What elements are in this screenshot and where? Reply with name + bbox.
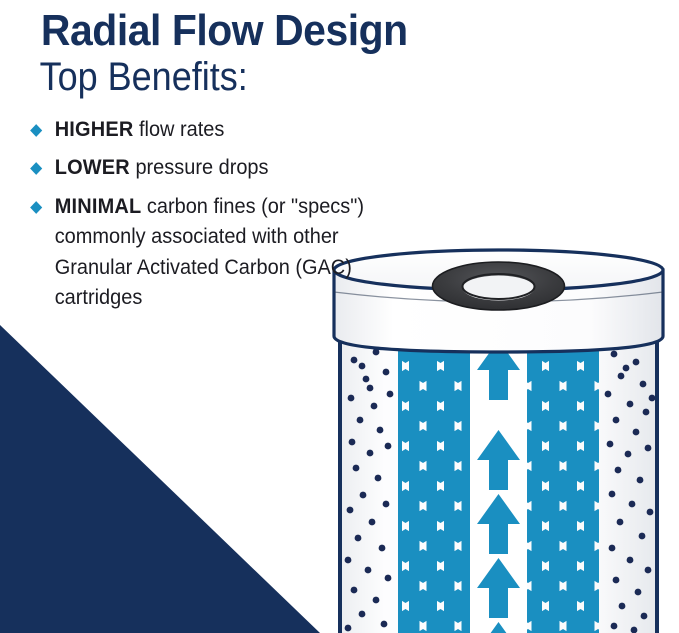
benefit-emphasis: MINIMAL bbox=[55, 195, 142, 218]
diamond-bullet-icon bbox=[30, 201, 42, 214]
benefit-emphasis: HIGHER bbox=[55, 118, 134, 141]
benefit-text: flow rates bbox=[133, 118, 224, 141]
carbon-media-left bbox=[398, 346, 470, 633]
gasket-ring-bore bbox=[463, 276, 535, 301]
infographic-canvas: Radial Flow Design Top Benefits: HIGHER … bbox=[0, 0, 679, 633]
benefit-item-minimal: MINIMAL carbon fines (or "specs") common… bbox=[30, 192, 410, 314]
text-block: Radial Flow Design Top Benefits: HIGHER … bbox=[0, 0, 430, 322]
benefit-item-higher: HIGHER flow rates bbox=[30, 115, 410, 145]
benefit-item-lower: LOWER pressure drops bbox=[30, 153, 410, 183]
benefit-text: pressure drops bbox=[130, 156, 269, 179]
page-title: Radial Flow Design bbox=[0, 0, 400, 54]
page-subtitle: Top Benefits: bbox=[0, 54, 387, 99]
benefit-emphasis: LOWER bbox=[55, 156, 130, 179]
diamond-bullet-icon bbox=[30, 163, 42, 176]
diamond-bullet-icon bbox=[30, 124, 42, 137]
carbon-media-right bbox=[527, 346, 599, 633]
benefits-list: HIGHER flow rates LOWER pressure drops M… bbox=[0, 115, 430, 314]
